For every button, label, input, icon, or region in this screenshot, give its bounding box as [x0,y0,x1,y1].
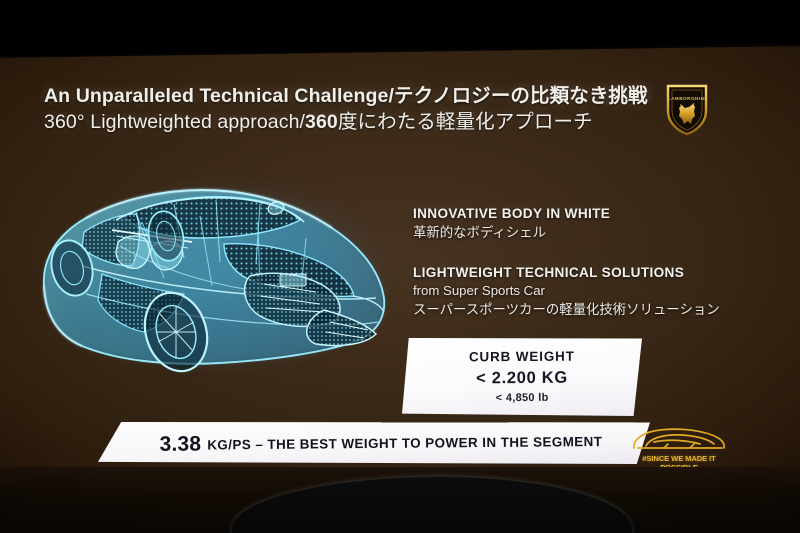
campaign-logo: #SINCE WE MADE IT POSSIBLE [624,424,734,470]
info-jp-body-in-white: 革新的なボディシェル [413,223,743,242]
title-line-2: 360° Lightweighted approach/360度にわたる軽量化ア… [44,109,674,136]
urus-outline-icon [624,424,734,456]
wireframe-car-svg [24,146,414,416]
power-ratio-caption: KG/PS – THE BEST WEIGHT TO POWER IN THE … [207,434,602,452]
title-line-2-en: 360° Lightweighted approach/ [44,111,305,133]
slide-title: An Unparalleled Technical Challenge/テクノロ… [44,84,674,136]
curb-weight-value-kg: < 2.200 KG [476,367,568,391]
power-ratio-value: 3.38 [159,433,201,457]
title-line-1: An Unparalleled Technical Challenge/テクノロ… [44,84,674,109]
curb-weight-value-lb: < 4,850 lb [496,390,549,407]
lamborghini-shield-icon: LAMBORGHINI [665,83,709,137]
info-subtitle-super-sports-car: from Super Sports Car [413,282,743,300]
info-block: INNOVATIVE BODY IN WHITE 革新的なボディシェル LIGH… [413,205,743,319]
info-heading-body-in-white: INNOVATIVE BODY IN WHITE [413,205,743,223]
info-spacer [413,242,743,264]
slide-content: An Unparalleled Technical Challenge/テクノロ… [0,0,800,533]
curb-weight-label: CURB WEIGHT [469,347,575,368]
wireframe-car-image [24,146,414,416]
svg-text:LAMBORGHINI: LAMBORGHINI [668,96,706,101]
presentation-photo: An Unparalleled Technical Challenge/テクノロ… [0,0,800,533]
power-to-weight-band: 3.38 KG/PS – THE BEST WEIGHT TO POWER IN… [98,422,650,464]
title-line-2-jp: 度にわたる軽量化アプローチ [338,111,593,133]
curb-weight-panel: CURB WEIGHT < 2.200 KG < 4,850 lb [402,338,642,416]
title-line-2-number: 360 [305,111,338,133]
info-jp-lightweight-solutions: スーパースポーツカーの軽量化技術ソリューション [413,300,743,319]
info-heading-lightweight-solutions: LIGHTWEIGHT TECHNICAL SOLUTIONS [413,264,743,282]
